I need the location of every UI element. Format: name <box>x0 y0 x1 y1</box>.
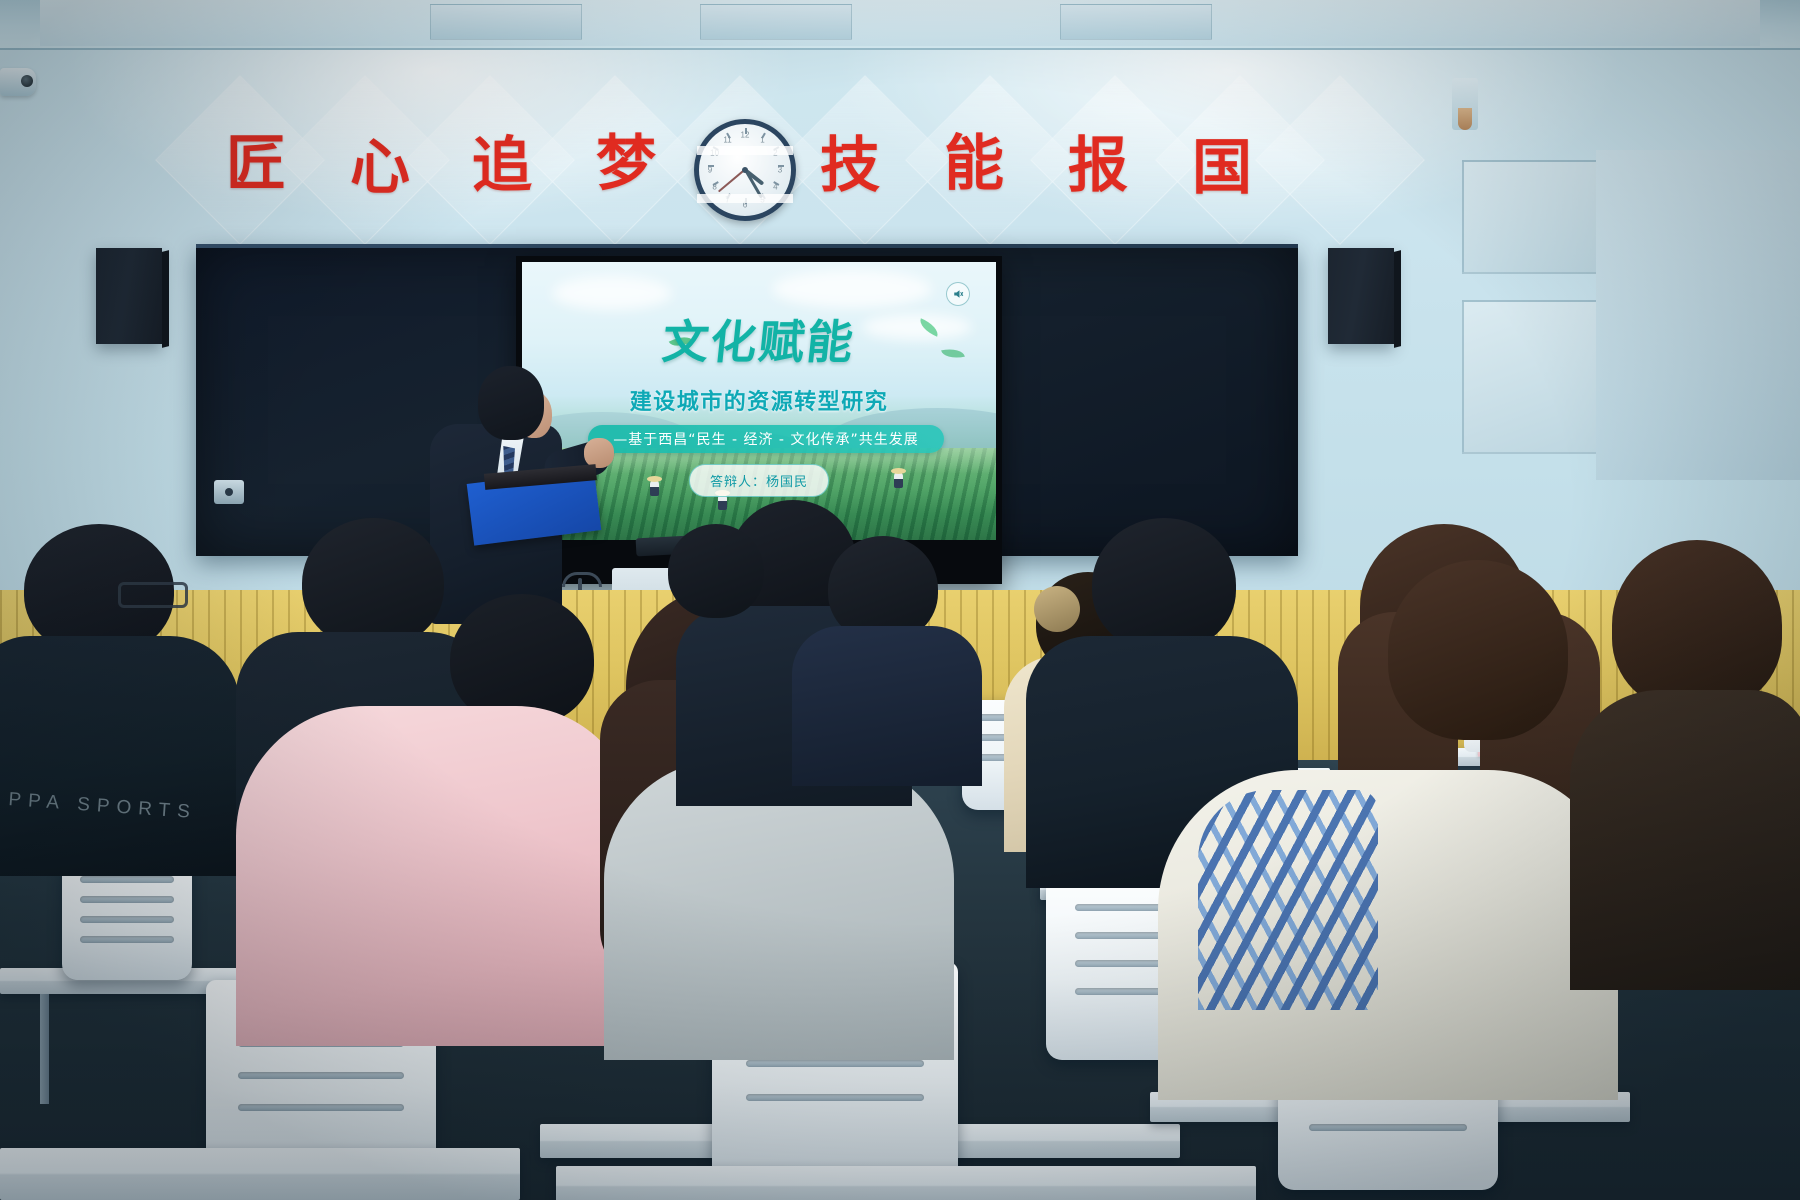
slide-cloud-1 <box>552 276 672 310</box>
banner-char-3: 梦 <box>596 134 656 194</box>
audience-head-6 <box>668 524 764 618</box>
banner-char-4: 技 <box>820 136 880 196</box>
ceiling-strip <box>40 0 1760 46</box>
banner-char-5: 能 <box>944 134 1004 194</box>
audience-head-11 <box>1388 560 1568 740</box>
wall-clock: 12 1 2 3 4 5 6 7 8 9 10 11 <box>694 119 796 221</box>
classroom-photo: 匠 心 追 梦 技 能 报 国 12 1 2 3 4 5 6 7 8 9 10 … <box>0 0 1800 1200</box>
wall-cabinet-upper <box>1462 160 1598 274</box>
slide-cloud-2 <box>772 270 932 308</box>
audience-hair-bun-8 <box>1034 586 1080 632</box>
slide-figure-3 <box>894 472 903 488</box>
presenter-hair <box>478 366 544 440</box>
clock-glare-bottom <box>697 194 793 203</box>
clock-second-hand <box>718 169 745 192</box>
banner-char-6: 报 <box>1068 136 1128 196</box>
wall-cabinet-lower <box>1462 300 1598 454</box>
audience-body-12 <box>1570 690 1800 990</box>
banner-char-0: 匠 <box>226 134 286 194</box>
speaker-mute-icon[interactable] <box>946 282 970 306</box>
clock-numeral-3: 3 <box>778 166 782 175</box>
blackboard-knob <box>214 480 244 504</box>
clock-glare-top <box>697 146 793 155</box>
slide-figure-1 <box>650 480 659 496</box>
clock-center-pin <box>742 167 748 173</box>
desk-front-leg-1 <box>40 994 49 1104</box>
desk-foreground-left <box>0 1148 520 1200</box>
banner-char-7: 国 <box>1192 138 1252 198</box>
wall-speaker-right <box>1328 248 1394 344</box>
wall-right-panel <box>1596 150 1800 480</box>
audience-head-2 <box>302 518 444 648</box>
banner-char-1: 心 <box>350 138 410 198</box>
audience-body-1 <box>0 636 240 876</box>
ceiling-vent-left <box>430 4 582 40</box>
slide-scope-band: —基于西昌“民生 - 经济 - 文化传承”共生发展 <box>588 425 944 453</box>
slide-presenter-badge: 答辩人：杨国民 <box>689 464 829 497</box>
desk-foreground-center <box>556 1166 1256 1200</box>
clock-numeral-12: 12 <box>741 131 750 140</box>
clock-numeral-8: 8 <box>712 183 716 192</box>
ceiling-vent-center <box>700 4 852 40</box>
blackboard-top-edge <box>196 244 1298 248</box>
wall-mounted-fixture <box>1452 78 1478 130</box>
ceiling-vent-right <box>1060 4 1212 40</box>
banner-char-2: 追 <box>472 136 532 196</box>
wall-speaker-left <box>96 248 162 344</box>
chair-left-1 <box>62 860 192 980</box>
clock-numeral-11: 11 <box>723 135 731 144</box>
audience-glasses-1 <box>118 582 188 608</box>
sweater-blue-pattern <box>1198 790 1378 1010</box>
presenter-hand <box>584 438 614 468</box>
audience-body-7 <box>792 626 982 786</box>
audience-head-9 <box>1092 518 1236 652</box>
clock-numeral-4: 4 <box>773 183 777 192</box>
clock-numeral-1: 1 <box>760 135 764 144</box>
clock-numeral-9: 9 <box>708 166 712 175</box>
slide-subtitle: 建设城市的资源转型研究 <box>522 384 996 416</box>
audience-body-3-pink-coat <box>236 706 636 1046</box>
audience-head-12 <box>1612 540 1782 710</box>
security-camera <box>0 68 36 96</box>
slide-main-title: 文化赋能 <box>522 306 996 372</box>
